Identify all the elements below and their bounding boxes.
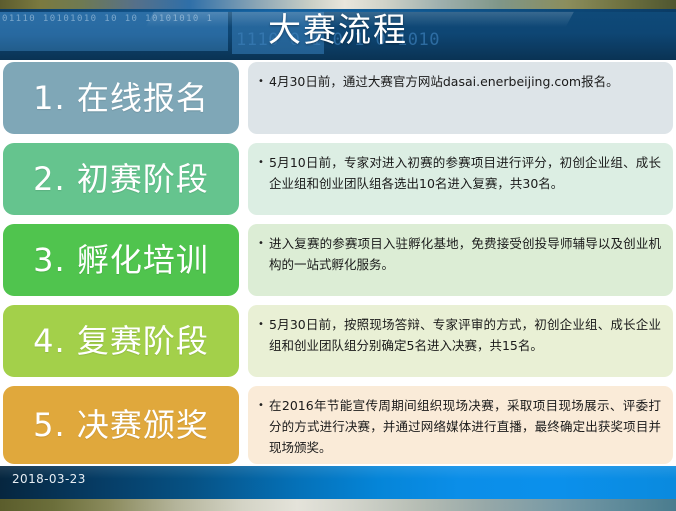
- step-label-4-text: 4. 复赛阶段: [33, 325, 209, 357]
- step-content-2-text: 5月10日前，专家对进入初赛的参赛项目进行评分，初创企业组、成长企业组和创业团队…: [258, 152, 661, 194]
- step-label-4: 4. 复赛阶段: [3, 305, 239, 377]
- footer-metal-strip: [0, 499, 676, 511]
- step-label-2: 2. 初赛阶段: [3, 143, 239, 215]
- step-content-4-text: 5月30日前，按照现场答辩、专家评审的方式，初创企业组、成长企业组和创业团队组分…: [258, 314, 661, 356]
- step-content-5: 在2016年节能宣传周期间组织现场决赛，采取项目现场展示、评委打分的方式进行决赛…: [248, 386, 673, 464]
- step-content-4: 5月30日前，按照现场答辩、专家评审的方式，初创企业组、成长企业组和创业团队组分…: [248, 305, 673, 377]
- step-content-2: 5月10日前，专家对进入初赛的参赛项目进行评分，初创企业组、成长企业组和创业团队…: [248, 143, 673, 215]
- step-label-5-text: 5. 决赛颁奖: [33, 409, 209, 441]
- step-label-3: 3. 孵化培训: [3, 224, 239, 296]
- step-content-1: 4月30日前，通过大赛官方网站dasai.enerbeijing.com报名。: [248, 62, 673, 134]
- footer-blue-bar: [0, 466, 676, 499]
- page-title: 大赛流程: [0, 8, 676, 52]
- step-label-2-text: 2. 初赛阶段: [33, 163, 209, 195]
- slide-header: 01110 10101010 10 10 10101010 1 1110 0 1…: [0, 0, 676, 60]
- step-content-3: 进入复赛的参赛项目入驻孵化基地，免费接受创投导师辅导以及创业机构的一站式孵化服务…: [248, 224, 673, 296]
- step-label-1: 1. 在线报名: [3, 62, 239, 134]
- step-label-1-text: 1. 在线报名: [33, 82, 209, 114]
- step-content-5-text: 在2016年节能宣传周期间组织现场决赛，采取项目现场展示、评委打分的方式进行决赛…: [258, 395, 661, 458]
- step-label-3-text: 3. 孵化培训: [33, 244, 209, 276]
- slide-footer: 2018-03-23: [0, 466, 676, 511]
- footer-date: 2018-03-23: [12, 472, 86, 486]
- footer-sheen: [0, 466, 676, 479]
- step-content-1-text: 4月30日前，通过大赛官方网站dasai.enerbeijing.com报名。: [258, 71, 661, 92]
- step-label-5: 5. 决赛颁奖: [3, 386, 239, 464]
- slide-root: 01110 10101010 10 10 10101010 1 1110 0 1…: [0, 0, 676, 511]
- step-content-3-text: 进入复赛的参赛项目入驻孵化基地，免费接受创投导师辅导以及创业机构的一站式孵化服务…: [258, 233, 661, 275]
- process-steps-list: 1. 在线报名 4月30日前，通过大赛官方网站dasai.enerbeijing…: [0, 62, 676, 466]
